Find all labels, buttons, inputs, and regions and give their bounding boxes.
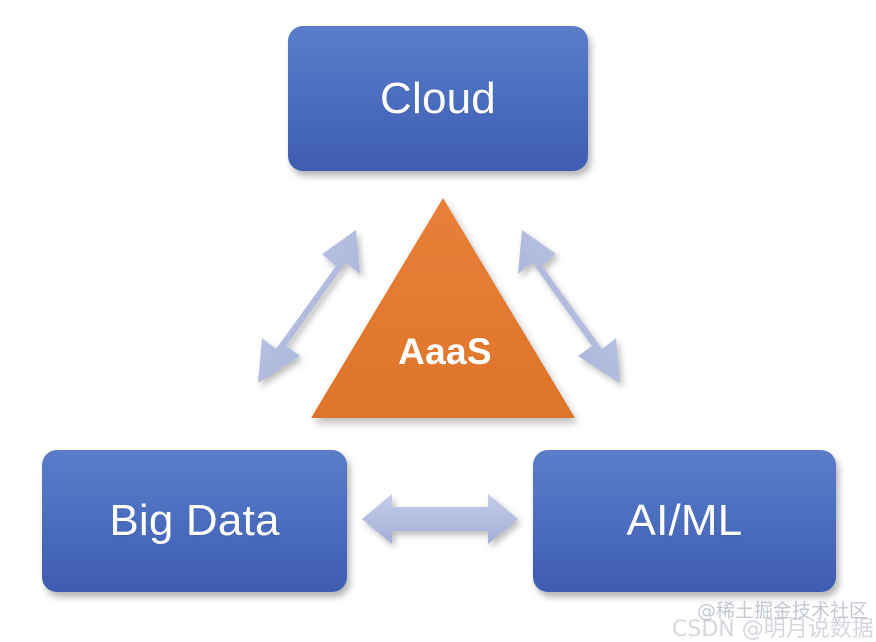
node-ai-ml-label: AI/ML — [627, 499, 743, 543]
node-cloud-label: Cloud — [380, 77, 496, 121]
node-cloud[interactable]: Cloud — [288, 26, 588, 171]
node-big-data-label: Big Data — [109, 499, 279, 543]
connector-big-data-ai-ml — [358, 488, 526, 558]
triangle-shape — [311, 198, 575, 418]
arrow-shape-bottom — [362, 494, 518, 544]
watermark-juejin: @稀土掘金技术社区 — [697, 596, 868, 623]
center-node-aaas[interactable]: AaaS — [300, 190, 590, 430]
node-big-data[interactable]: Big Data — [42, 450, 347, 592]
diagram-canvas: Cloud Big Data AI/ML — [0, 0, 876, 642]
node-ai-ml[interactable]: AI/ML — [533, 450, 836, 592]
watermark-csdn: CSDN @明月说数据 — [672, 611, 874, 642]
